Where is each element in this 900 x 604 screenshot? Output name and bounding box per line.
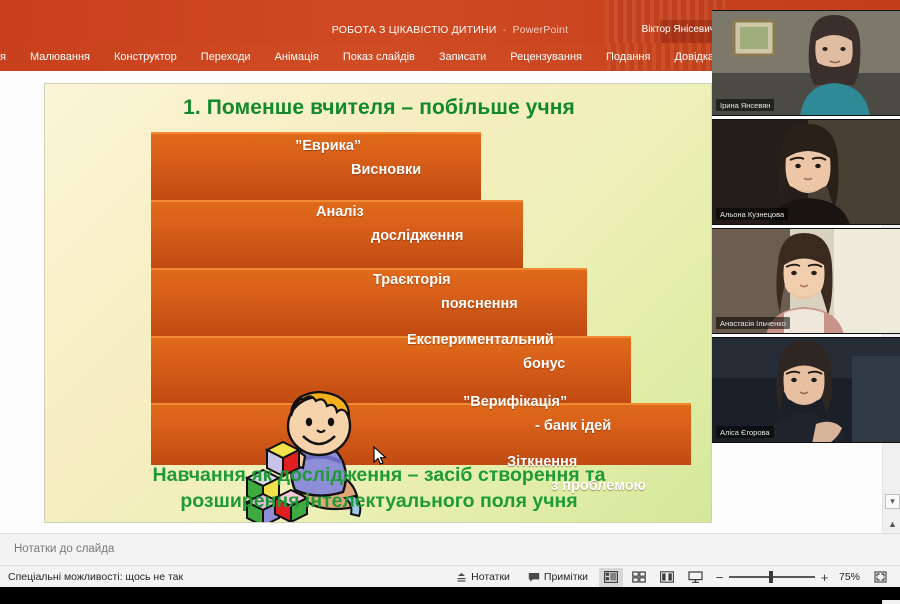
step-2-line-2: дослідження: [371, 228, 464, 244]
tab-review[interactable]: Рецензування: [498, 43, 594, 71]
tab-draw[interactable]: Малювання: [18, 43, 102, 71]
reading-view-button[interactable]: [655, 568, 679, 587]
step-5-line-1: ”Верифікація”: [463, 394, 567, 410]
step-4-line-2: бонус: [523, 356, 565, 372]
document-title: РОБОТА З ЦІКАВІСТЮ ДИТИНИ: [332, 24, 497, 36]
stair-labels: ”Еврика” Висновки Аналіз дослідження Тра…: [151, 132, 712, 465]
participant-name-4: Аліса Єгорова: [716, 426, 774, 438]
status-bar: Спеціальні можливості: щось не так Нотат…: [0, 565, 900, 587]
title-separator: -: [500, 24, 510, 36]
video-tile-1[interactable]: Ірина Янсевян: [712, 10, 900, 116]
video-tile-4[interactable]: Аліса Єгорова: [712, 337, 900, 443]
powerpoint-window: РОБОТА З ЦІКАВІСТЮ ДИТИНИ - PowerPoint В…: [0, 0, 900, 600]
tab-view[interactable]: Подання: [594, 43, 662, 71]
comment-icon: [528, 572, 540, 583]
accessibility-status[interactable]: Спеціальні можливості: щось не так: [0, 571, 183, 583]
step-3-line-1: Траєкторія: [373, 272, 451, 288]
video-tile-3[interactable]: Анастасія Ільченко: [712, 228, 900, 334]
video-participants-panel: Ірина Янсевян Альона Кузнецова: [712, 10, 900, 448]
conclusion-line-2: розширення інтелектуального поля учня: [45, 488, 712, 514]
zoom-out-button[interactable]: −: [715, 570, 724, 585]
zoom-slider[interactable]: [729, 571, 815, 583]
participant-name-3: Анастасія Ільченко: [716, 317, 790, 329]
slide-title[interactable]: 1. Поменше вчителя – побільше учня: [45, 96, 712, 120]
slide-sorter-icon: [632, 571, 646, 583]
slideshow-icon: [688, 571, 703, 583]
video-tile-2[interactable]: Альона Кузнецова: [712, 119, 900, 225]
participant-name-1: Ірина Янсевян: [716, 99, 774, 111]
normal-view-icon: [604, 571, 618, 583]
normal-view-button[interactable]: [599, 568, 623, 587]
tab-transitions[interactable]: Переходи: [189, 43, 263, 71]
previous-slide-icon[interactable]: ▲: [885, 516, 900, 531]
comments-toggle-label: Примітки: [544, 571, 588, 583]
participant-name-2: Альона Кузнецова: [716, 208, 788, 220]
chevron-down-icon[interactable]: ▾: [885, 494, 900, 509]
slide-canvas[interactable]: 1. Поменше вчителя – побільше учня ”Еври…: [44, 83, 712, 523]
reading-view-icon: [660, 571, 674, 583]
zoom-in-button[interactable]: +: [820, 570, 829, 585]
notes-toggle-button[interactable]: Нотатки: [447, 566, 519, 588]
comments-toggle-button[interactable]: Примітки: [519, 566, 597, 588]
notes-pane[interactable]: Нотатки до слайда: [0, 533, 900, 565]
step-4-line-1: Експериментальний: [407, 332, 554, 348]
step-1-line-2: Висновки: [351, 162, 421, 178]
zoom-slider-handle[interactable]: [769, 571, 773, 583]
fit-to-window-button[interactable]: [868, 568, 892, 587]
tab-record[interactable]: Записати: [427, 43, 498, 71]
zoom-level-label[interactable]: 75%: [834, 571, 860, 583]
bottom-black-strip: [0, 587, 900, 600]
tab-animations[interactable]: Анімація: [263, 43, 331, 71]
notes-toggle-label: Нотатки: [471, 571, 510, 583]
step-2-line-1: Аналіз: [316, 204, 364, 220]
status-bar-right: Нотатки Примітки: [447, 566, 894, 588]
slideshow-view-button[interactable]: [683, 568, 707, 587]
notes-icon: [456, 572, 467, 583]
tab-slideshow[interactable]: Показ слайдів: [331, 43, 427, 71]
slide-sorter-view-button[interactable]: [627, 568, 651, 587]
notes-placeholder: Нотатки до слайда: [14, 543, 114, 555]
tab-home[interactable]: я: [0, 43, 18, 71]
conclusion-line-1: Навчання як дослідження – засіб створенн…: [45, 462, 712, 488]
account-name[interactable]: Віктор Янісевич: [642, 24, 715, 35]
zoom-control[interactable]: − + 75%: [709, 570, 866, 585]
slide-conclusion[interactable]: Навчання як дослідження – засіб створенн…: [45, 462, 712, 514]
tab-design[interactable]: Конструктор: [102, 43, 189, 71]
ribbon-tabs: я Малювання Конструктор Переходи Анімаці…: [0, 43, 726, 71]
step-1-line-1: ”Еврика”: [295, 138, 361, 154]
fit-to-window-icon: [874, 571, 887, 583]
step-3-line-2: пояснення: [441, 296, 518, 312]
step-5-line-2: - банк ідей: [535, 418, 611, 434]
app-name: PowerPoint: [513, 24, 569, 36]
